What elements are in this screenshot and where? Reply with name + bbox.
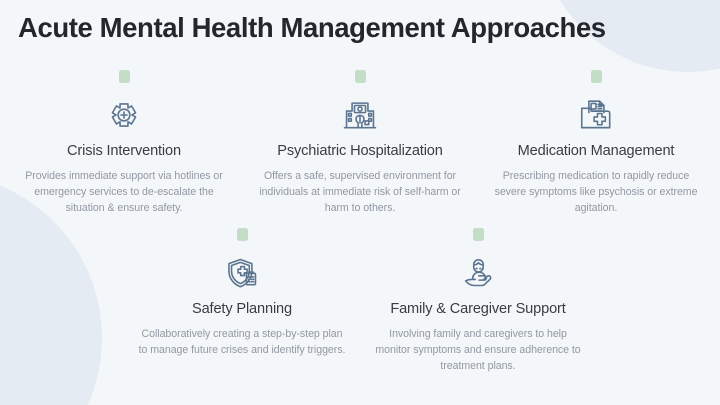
card-psychiatric-hospitalization: Psychiatric Hospitalization Offers a saf…: [242, 70, 478, 217]
card-description: Collaboratively creating a step-by-step …: [137, 326, 347, 359]
accent-marker: [355, 70, 366, 83]
accent-marker: [473, 228, 484, 241]
card-description: Prescribing medication to rapidly reduce…: [491, 168, 701, 217]
page-title: Acute Mental Health Management Approache…: [18, 12, 606, 44]
accent-marker: [237, 228, 248, 241]
card-row-top: Crisis Intervention Provides immediate s…: [0, 70, 720, 217]
slide-canvas: Acute Mental Health Management Approache…: [0, 0, 720, 405]
card-title: Family & Caregiver Support: [390, 301, 565, 319]
card-row-bottom: Safety Planning Collaboratively creating…: [0, 228, 720, 375]
card-description: Offers a safe, supervised environment fo…: [255, 168, 465, 217]
accent-marker: [119, 70, 130, 83]
psychiatric-hospital-building-icon: [338, 95, 382, 135]
card-safety-planning: Safety Planning Collaboratively creating…: [124, 228, 360, 375]
card-title: Crisis Intervention: [67, 143, 181, 161]
card-title: Medication Management: [518, 143, 675, 161]
shield-clipboard-icon: [220, 253, 264, 293]
card-title: Safety Planning: [192, 301, 292, 319]
card-crisis-intervention: Crisis Intervention Provides immediate s…: [6, 70, 242, 217]
person-in-hand-support-icon: [456, 253, 500, 293]
accent-marker: [591, 70, 602, 83]
card-description: Involving family and caregivers to help …: [373, 326, 583, 375]
medical-record-folder-icon: [574, 95, 618, 135]
crisis-gear-cross-icon: [102, 95, 146, 135]
card-family-caregiver-support: Family & Caregiver Support Involving fam…: [360, 228, 596, 375]
card-medication-management: Medication Management Prescribing medica…: [478, 70, 714, 217]
card-title: Psychiatric Hospitalization: [277, 143, 442, 161]
card-description: Provides immediate support via hotlines …: [19, 168, 229, 217]
